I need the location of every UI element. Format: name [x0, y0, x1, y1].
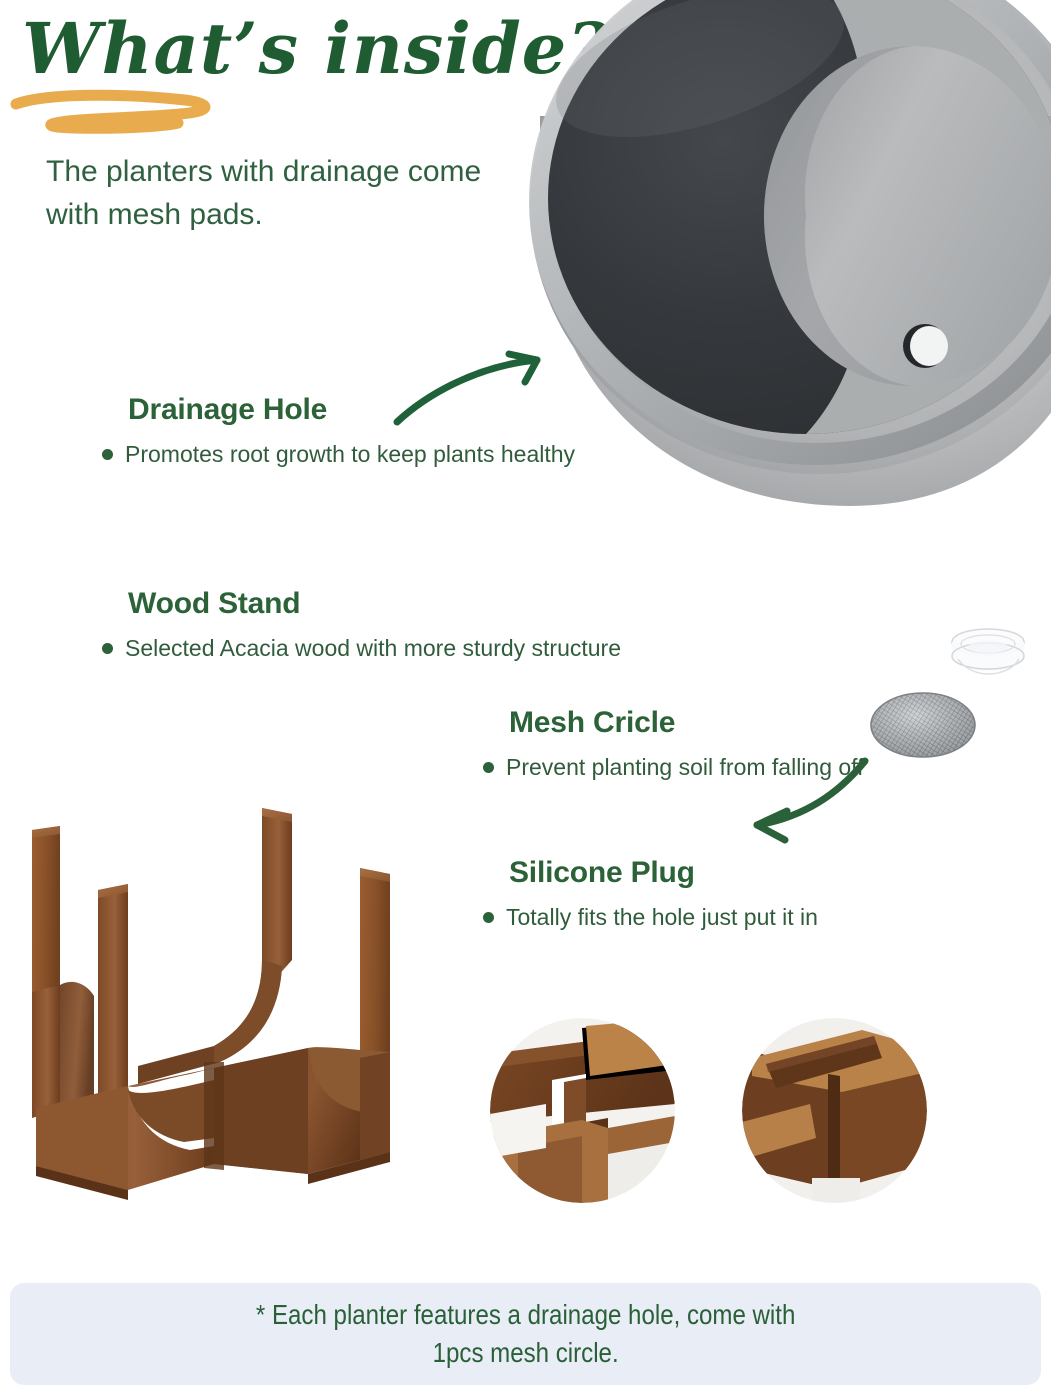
mesh-circle-image — [868, 690, 978, 760]
footer-note-text: * Each planter features a drainage hole,… — [256, 1296, 795, 1372]
detail-photo-cross-joint — [742, 1018, 927, 1203]
detail-photo-joint-slot — [490, 1018, 675, 1203]
feature-drainage-hole: Drainage Hole Promotes root growth to ke… — [128, 392, 575, 469]
feature-heading-drainage-hole: Drainage Hole — [128, 392, 575, 428]
feature-bullets-silicone-plug: Totally fits the hole just put it in — [477, 903, 818, 932]
page-subtitle: The planters with drainage come with mes… — [46, 150, 516, 236]
feature-heading-mesh-circle: Mesh Cricle — [509, 705, 864, 741]
silicone-plug-image — [948, 626, 1028, 684]
feature-bullets-mesh-circle: Prevent planting soil from falling off — [477, 753, 864, 782]
footer-note-bar: * Each planter features a drainage hole,… — [10, 1283, 1041, 1385]
feature-heading-silicone-plug: Silicone Plug — [509, 855, 818, 891]
feature-bullets-wood-stand: Selected Acacia wood with more sturdy st… — [96, 634, 621, 663]
list-item: Promotes root growth to keep plants heal… — [96, 440, 575, 469]
wood-stand-image — [8, 800, 428, 1230]
gold-swoosh-underline — [10, 88, 230, 134]
feature-bullets-drainage-hole: Promotes root growth to keep plants heal… — [96, 440, 575, 469]
feature-mesh-circle: Mesh Cricle Prevent planting soil from f… — [509, 705, 864, 782]
feature-heading-wood-stand: Wood Stand — [128, 586, 621, 622]
feature-wood-stand: Wood Stand Selected Acacia wood with mor… — [128, 586, 621, 663]
planter-pot-image — [520, 0, 1051, 566]
list-item: Prevent planting soil from falling off — [477, 753, 864, 782]
infographic-canvas: What’s inside? The planters with drainag… — [0, 0, 1051, 1395]
feature-silicone-plug: Silicone Plug Totally fits the hole just… — [509, 855, 818, 932]
list-item: Totally fits the hole just put it in — [477, 903, 818, 932]
list-item: Selected Acacia wood with more sturdy st… — [96, 634, 621, 663]
